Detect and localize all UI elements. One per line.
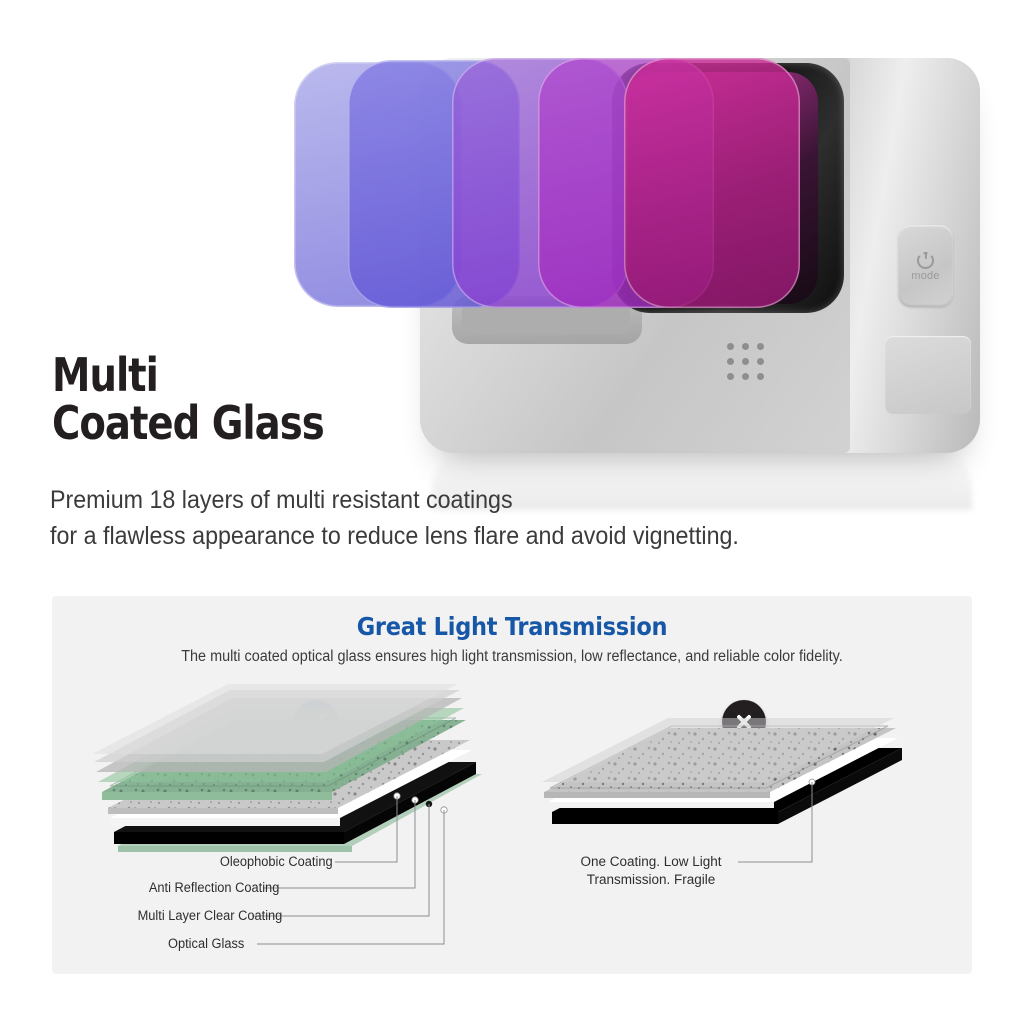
leader-dot-right	[809, 779, 815, 785]
layer-anti-reflection-coating	[108, 740, 470, 814]
cross-badge-icon	[722, 700, 766, 744]
mode-button-label: mode	[911, 271, 939, 282]
filter-plate-5	[624, 58, 800, 308]
leader-line-1	[335, 796, 397, 862]
diagram-right-single-layer	[542, 718, 902, 824]
check-badge-icon	[294, 700, 338, 744]
leader-dot-2	[412, 797, 418, 803]
leader-dot-3	[426, 801, 432, 807]
label-multi-layer-clear-coating: Multi Layer Clear Coating	[138, 908, 283, 923]
panel-subtitle: The multi coated optical glass ensures h…	[84, 648, 940, 666]
panel-title: Great Light Transmission	[98, 612, 926, 641]
microphone-grid-icon	[727, 343, 767, 383]
power-icon	[917, 252, 934, 269]
leader-line-2	[263, 800, 415, 888]
label-one-coating-line-2: Transmission. Fragile	[562, 871, 740, 889]
leader-dot-1	[394, 793, 400, 799]
leader-dot-4	[441, 807, 447, 813]
label-one-coating-line-1: One Coating. Low Light	[562, 853, 740, 871]
headline-line-2: Coated Glass	[52, 400, 522, 448]
camera-side-door	[885, 336, 971, 414]
label-anti-reflection-coating: Anti Reflection Coating	[149, 880, 279, 895]
layer-multi-layer-clear-coating	[110, 750, 472, 826]
layer-black-core	[114, 762, 476, 844]
layer-top-grey-sheets	[92, 684, 462, 772]
light-transmission-panel: Great Light Transmission The multi coate…	[52, 596, 972, 974]
headline-line-1: Multi	[52, 352, 522, 400]
hero-subtext: Premium 18 layers of multi resistant coa…	[50, 483, 887, 554]
label-optical-glass: Optical Glass	[168, 936, 244, 951]
layer-optical-glass	[118, 774, 482, 852]
label-oleophobic-coating: Oleophobic Coating	[220, 854, 333, 869]
leader-line-right	[738, 782, 812, 862]
layer-oleophobic-coating	[102, 718, 466, 800]
hero-product-section: mode Multi Coated Glass Premium 18 layer…	[0, 0, 1024, 585]
page-title: Multi Coated Glass	[52, 352, 612, 448]
mode-button[interactable]: mode	[898, 225, 953, 307]
hero-subtext-line-2: for a flawless appearance to reduce lens…	[50, 519, 887, 555]
leader-line-4	[257, 810, 444, 944]
hero-subtext-line-1: Premium 18 layers of multi resistant coa…	[50, 483, 887, 519]
label-one-coating: One Coating. Low Light Transmission. Fra…	[562, 853, 740, 889]
layer-top-green-sheet	[98, 708, 464, 782]
